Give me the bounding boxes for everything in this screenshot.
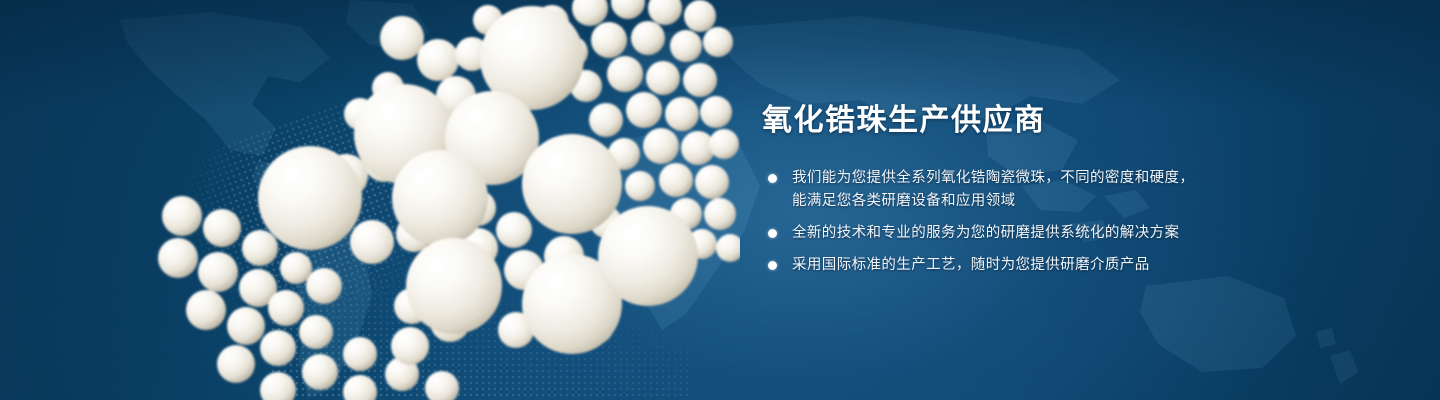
hero-banner: 氧化锆珠生产供应商 我们能为您提供全系列氧化锆陶瓷微珠，不同的密度和硬度， 能满… bbox=[0, 0, 1440, 400]
list-item: 全新的技术和专业的服务为您的研磨提供系统化的解决方案 bbox=[762, 222, 1382, 245]
bullet-dot-icon bbox=[768, 261, 777, 270]
page-title: 氧化锆珠生产供应商 bbox=[762, 104, 1382, 137]
list-item-line: 我们能为您提供全系列氧化锆陶瓷微珠，不同的密度和硬度， bbox=[792, 167, 1382, 190]
list-item-line: 能满足您各类研磨设备和应用领域 bbox=[792, 190, 1382, 213]
zirconia-beads-image bbox=[120, 0, 740, 400]
list-item-line: 采用国际标准的生产工艺，随时为您提供研磨介质产品 bbox=[792, 254, 1382, 277]
list-item: 我们能为您提供全系列氧化锆陶瓷微珠，不同的密度和硬度， 能满足您各类研磨设备和应… bbox=[762, 167, 1382, 213]
feature-list: 我们能为您提供全系列氧化锆陶瓷微珠，不同的密度和硬度， 能满足您各类研磨设备和应… bbox=[762, 167, 1382, 277]
bullet-dot-icon bbox=[768, 174, 777, 183]
list-item-line: 全新的技术和专业的服务为您的研磨提供系统化的解决方案 bbox=[792, 222, 1382, 245]
banner-copy: 氧化锆珠生产供应商 我们能为您提供全系列氧化锆陶瓷微珠，不同的密度和硬度， 能满… bbox=[762, 104, 1382, 277]
bullet-dot-icon bbox=[768, 229, 777, 238]
list-item: 采用国际标准的生产工艺，随时为您提供研磨介质产品 bbox=[762, 254, 1382, 277]
